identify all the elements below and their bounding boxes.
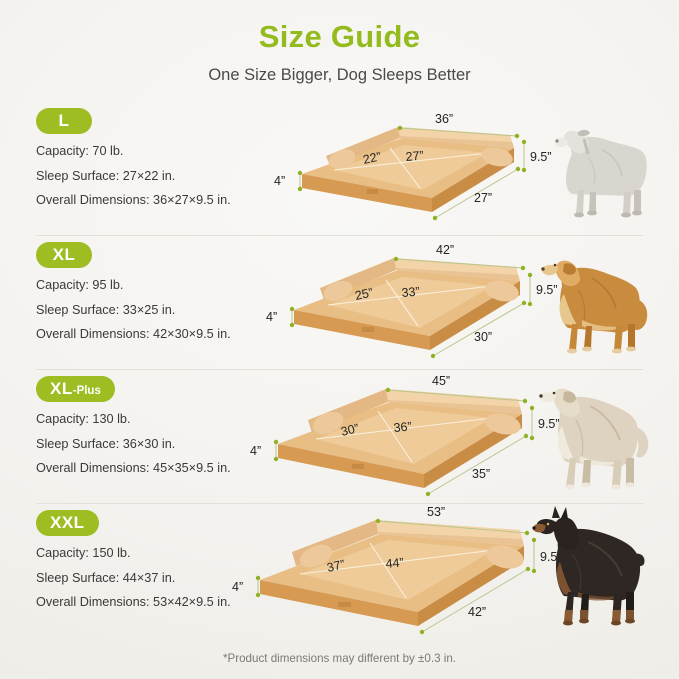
page-title: Size Guide [0, 18, 679, 57]
size-info-xl: XL Capacity: 95 lb. Sleep Surface: 33×25… [36, 236, 272, 343]
sleep-surface-text: Sleep Surface: 36×30 in. [36, 438, 272, 452]
size-row-xl[interactable]: XL Capacity: 95 lb. Sleep Surface: 33×25… [36, 236, 643, 370]
sleep-surface-text: Sleep Surface: 33×25 in. [36, 304, 272, 318]
dim-height-front: 4” [274, 174, 285, 188]
dog-golden-retriever [541, 260, 647, 353]
size-badge-sublabel: -Plus [73, 378, 101, 404]
dim-depth: 30” [474, 330, 492, 344]
header: Size Guide One Size Bigger, Dog Sleeps B… [0, 0, 679, 86]
size-illustration-l: 36” 4” 22” 27” 9.5” [272, 102, 643, 235]
size-badge-label: XL [50, 376, 73, 402]
size-badge-label: XXL [50, 510, 85, 536]
dog-bulldog [555, 129, 647, 217]
dog-labrador [539, 388, 648, 489]
dim-total-height: 9.5” [538, 417, 560, 431]
capacity-text: Capacity: 150 lb. [36, 547, 272, 561]
dim-total-height: 9.5” [530, 150, 552, 164]
size-row-xxl[interactable]: XXL Capacity: 150 lb. Sleep Surface: 44×… [36, 504, 643, 637]
size-info-xxl: XXL Capacity: 150 lb. Sleep Surface: 44×… [36, 504, 272, 611]
sleep-surface-text: Sleep Surface: 27×22 in. [36, 170, 272, 184]
size-badge-xl: XL [36, 242, 92, 268]
dim-surface-width: 33” [401, 284, 420, 300]
size-row-l[interactable]: L Capacity: 70 lb. Sleep Surface: 27×22 … [36, 102, 643, 236]
dim-depth: 35” [472, 467, 490, 481]
size-illustration-xl-plus: 45” 4” 30” 36” 9.5” 35” [272, 370, 643, 503]
size-info-l: L Capacity: 70 lb. Sleep Surface: 27×22 … [36, 102, 272, 209]
overall-dimensions-text: Overall Dimensions: 36×27×9.5 in. [36, 194, 272, 208]
page-subtitle: One Size Bigger, Dog Sleeps Better [0, 66, 679, 86]
size-rows: L Capacity: 70 lb. Sleep Surface: 27×22 … [0, 102, 679, 637]
size-info-xl-plus: XL-Plus Capacity: 130 lb. Sleep Surface:… [36, 370, 272, 477]
dim-total-height: 9.5” [536, 283, 558, 297]
size-badge-xl-plus: XL-Plus [36, 376, 115, 402]
size-illustration-xl: 42” 4” 25” 33” 9.5” 30” [272, 236, 643, 369]
size-badge-label: XL [53, 242, 76, 268]
size-badge-xxl: XXL [36, 510, 99, 536]
dim-width: 45” [432, 374, 450, 388]
dog-bed-illustration [260, 520, 526, 626]
dim-depth: 42” [468, 605, 486, 619]
size-row-xl-plus[interactable]: XL-Plus Capacity: 130 lb. Sleep Surface:… [36, 370, 643, 504]
dim-surface-width: 36” [393, 419, 412, 435]
capacity-text: Capacity: 70 lb. [36, 145, 272, 159]
dim-width: 53” [427, 505, 445, 519]
dim-height-front: 4” [250, 444, 261, 458]
dim-height-front: 4” [266, 310, 277, 324]
overall-dimensions-text: Overall Dimensions: 42×30×9.5 in. [36, 328, 272, 342]
dim-surface-width: 44” [385, 555, 404, 571]
capacity-text: Capacity: 95 lb. [36, 279, 272, 293]
size-illustration-xxl: 53” 4” 37” 44” 9.5” 42” [272, 504, 643, 637]
dim-depth: 27” [474, 191, 492, 205]
dim-surface-width: 27” [405, 148, 424, 164]
dog-doberman [532, 506, 644, 626]
dim-height-front: 4” [232, 580, 243, 594]
size-badge-label: L [59, 108, 70, 134]
dim-width: 42” [436, 243, 454, 257]
footer-disclaimer: *Product dimensions may different by ±0.… [0, 652, 679, 665]
overall-dimensions-text: Overall Dimensions: 45×35×9.5 in. [36, 462, 272, 476]
size-badge-l: L [36, 108, 92, 134]
dim-width: 36” [435, 112, 453, 126]
overall-dimensions-text: Overall Dimensions: 53×42×9.5 in. [36, 596, 272, 610]
capacity-text: Capacity: 130 lb. [36, 413, 272, 427]
